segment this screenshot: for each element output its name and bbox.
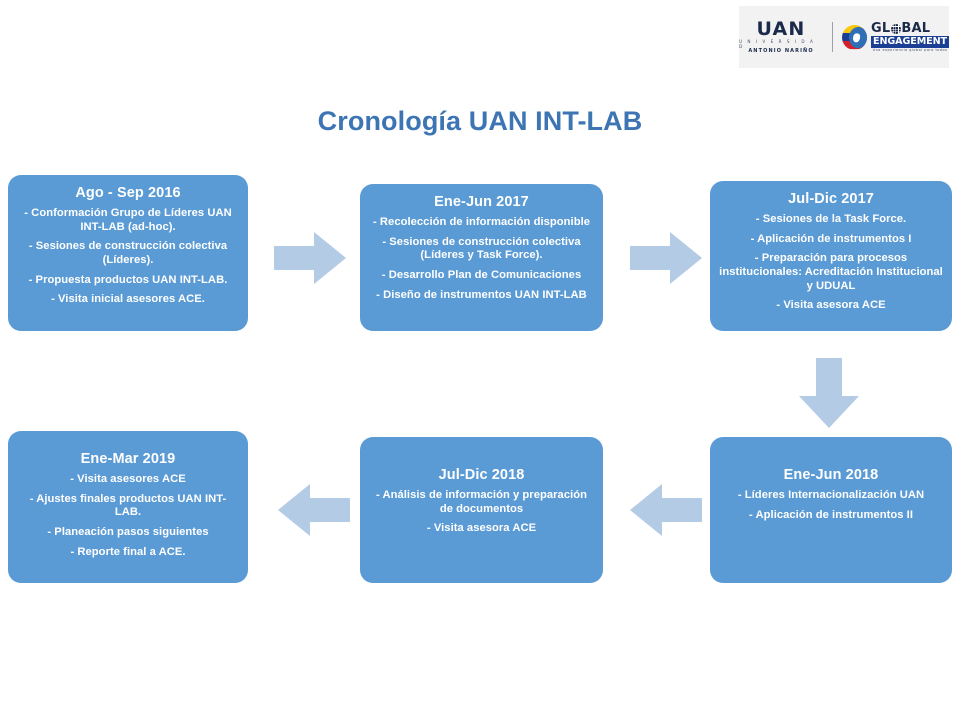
timeline-box-ene-mar-2019[interactable]: Ene-Mar 2019 - Visita asesores ACE - Aju… [8, 431, 248, 583]
timeline-box-line: - Recolección de información disponible [369, 216, 594, 230]
timeline-box-ene-jun-2017[interactable]: Ene-Jun 2017 - Recolección de informació… [360, 184, 603, 331]
timeline-box-lines: - Visita asesores ACE - Ajustes finales … [17, 473, 239, 559]
timeline-box-line: - Visita inicial asesores ACE. [17, 293, 239, 307]
timeline-diagram: Ago - Sep 2016 - Conformación Grupo de L… [0, 0, 960, 720]
timeline-box-line: - Preparación para procesos instituciona… [719, 252, 943, 293]
timeline-box-line: - Líderes Internacionalización UAN [719, 489, 943, 503]
arrow-right-icon [630, 232, 702, 284]
timeline-box-heading: Jul-Dic 2018 [439, 467, 525, 483]
timeline-box-jul-dic-2018[interactable]: Jul-Dic 2018 - Análisis de información y… [360, 437, 603, 583]
arrow-down-icon [799, 358, 859, 428]
timeline-box-line: - Sesiones de construcción colectiva (Lí… [369, 236, 594, 263]
timeline-box-lines: - Recolección de información disponible … [369, 216, 594, 302]
timeline-box-line: - Ajustes finales productos UAN INT-LAB. [17, 493, 239, 520]
timeline-box-line: - Reporte final a ACE. [17, 546, 239, 560]
timeline-box-line: - Visita asesora ACE [719, 299, 943, 313]
timeline-box-line: - Visita asesora ACE [369, 522, 594, 536]
timeline-box-line: - Propuesta productos UAN INT-LAB. [17, 274, 239, 288]
timeline-box-line: - Diseño de instrumentos UAN INT-LAB [369, 289, 594, 303]
timeline-box-line: - Sesiones de la Task Force. [719, 213, 943, 227]
timeline-box-ago-sep-2016[interactable]: Ago - Sep 2016 - Conformación Grupo de L… [8, 175, 248, 331]
arrow-right-icon [274, 232, 346, 284]
timeline-box-heading: Ene-Jun 2017 [434, 194, 529, 210]
timeline-box-jul-dic-2017[interactable]: Jul-Dic 2017 - Sesiones de la Task Force… [710, 181, 952, 331]
timeline-box-lines: - Líderes Internacionalización UAN - Apl… [719, 489, 943, 522]
timeline-box-lines: - Sesiones de la Task Force. - Aplicació… [719, 213, 943, 313]
timeline-box-line: - Aplicación de instrumentos I [719, 233, 943, 247]
timeline-box-line: - Conformación Grupo de Líderes UAN INT-… [17, 207, 239, 234]
arrow-left-icon [630, 484, 702, 536]
timeline-box-heading: Ago - Sep 2016 [75, 185, 180, 201]
timeline-box-line: - Desarrollo Plan de Comunicaciones [369, 269, 594, 283]
timeline-box-heading: Ene-Mar 2019 [81, 451, 176, 467]
timeline-box-ene-jun-2018[interactable]: Ene-Jun 2018 - Líderes Internacionalizac… [710, 437, 952, 583]
timeline-box-line: - Sesiones de construcción colectiva (Lí… [17, 240, 239, 267]
timeline-box-lines: - Análisis de información y preparación … [369, 489, 594, 536]
timeline-box-heading: Ene-Jun 2018 [784, 467, 879, 483]
timeline-box-line: - Visita asesores ACE [17, 473, 239, 487]
timeline-box-lines: - Conformación Grupo de Líderes UAN INT-… [17, 207, 239, 307]
timeline-box-heading: Jul-Dic 2017 [788, 191, 874, 207]
timeline-box-line: - Planeación pasos siguientes [17, 526, 239, 540]
timeline-box-line: - Análisis de información y preparación … [369, 489, 594, 516]
timeline-box-line: - Aplicación de instrumentos II [719, 509, 943, 523]
arrow-left-icon [278, 484, 350, 536]
